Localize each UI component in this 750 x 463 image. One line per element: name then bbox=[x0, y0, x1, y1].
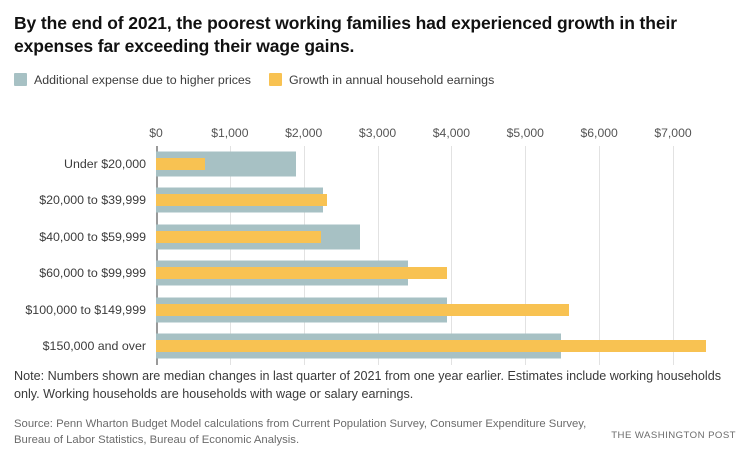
category-label: $150,000 and over bbox=[43, 339, 146, 353]
chart-footer: Note: Numbers shown are median changes i… bbox=[14, 368, 736, 449]
x-tick-label: $0 bbox=[149, 126, 163, 140]
x-tick-label: $1,000 bbox=[211, 126, 248, 140]
category-label: Under $20,000 bbox=[64, 157, 146, 171]
bar-earnings[interactable] bbox=[156, 304, 569, 316]
legend-swatch-earnings bbox=[269, 73, 282, 86]
legend-item-expense[interactable]: Additional expense due to higher prices bbox=[14, 73, 251, 87]
category-label: $100,000 to $149,999 bbox=[25, 303, 146, 317]
category-label: $40,000 to $59,999 bbox=[39, 230, 146, 244]
washington-post-brand: THE WASHINGTON POST bbox=[611, 416, 736, 441]
bar-chart: $0$1,000$2,000$3,000$4,000$5,000$6,000$7… bbox=[14, 99, 736, 349]
bar-earnings[interactable] bbox=[156, 267, 447, 279]
x-tick-label: $3,000 bbox=[359, 126, 396, 140]
legend-label-earnings: Growth in annual household earnings bbox=[289, 73, 494, 87]
legend-item-earnings[interactable]: Growth in annual household earnings bbox=[269, 73, 494, 87]
bar-row[interactable]: $40,000 to $59,999 bbox=[156, 219, 673, 256]
legend-label-expense: Additional expense due to higher prices bbox=[34, 73, 251, 87]
gridline bbox=[673, 146, 674, 365]
legend-swatch-expense bbox=[14, 73, 27, 86]
bar-earnings[interactable] bbox=[156, 158, 205, 170]
note-text: Note: Numbers shown are median changes i… bbox=[14, 368, 728, 404]
x-tick-label: $7,000 bbox=[654, 126, 691, 140]
bar-row[interactable]: $60,000 to $99,999 bbox=[156, 255, 673, 292]
bar-row[interactable]: $100,000 to $149,999 bbox=[156, 292, 673, 329]
bar-rows: Under $20,000$20,000 to $39,999$40,000 t… bbox=[156, 146, 673, 365]
chart-legend: Additional expense due to higher prices … bbox=[14, 73, 736, 87]
bar-row[interactable]: $150,000 and over bbox=[156, 328, 673, 365]
source-text: Source: Penn Wharton Budget Model calcul… bbox=[14, 416, 594, 449]
x-tick-label: $4,000 bbox=[433, 126, 470, 140]
bar-row[interactable]: $20,000 to $39,999 bbox=[156, 182, 673, 219]
bar-earnings[interactable] bbox=[156, 231, 321, 243]
category-label: $20,000 to $39,999 bbox=[39, 193, 146, 207]
bar-earnings[interactable] bbox=[156, 340, 706, 352]
plot-area: $0$1,000$2,000$3,000$4,000$5,000$6,000$7… bbox=[156, 126, 673, 345]
x-tick-label: $2,000 bbox=[285, 126, 322, 140]
x-tick-label: $5,000 bbox=[507, 126, 544, 140]
chart-page: By the end of 2021, the poorest working … bbox=[0, 0, 750, 463]
category-label: $60,000 to $99,999 bbox=[39, 266, 146, 280]
bar-earnings[interactable] bbox=[156, 194, 327, 206]
page-title: By the end of 2021, the poorest working … bbox=[14, 0, 714, 59]
x-tick-label: $6,000 bbox=[581, 126, 618, 140]
bar-row[interactable]: Under $20,000 bbox=[156, 146, 673, 183]
